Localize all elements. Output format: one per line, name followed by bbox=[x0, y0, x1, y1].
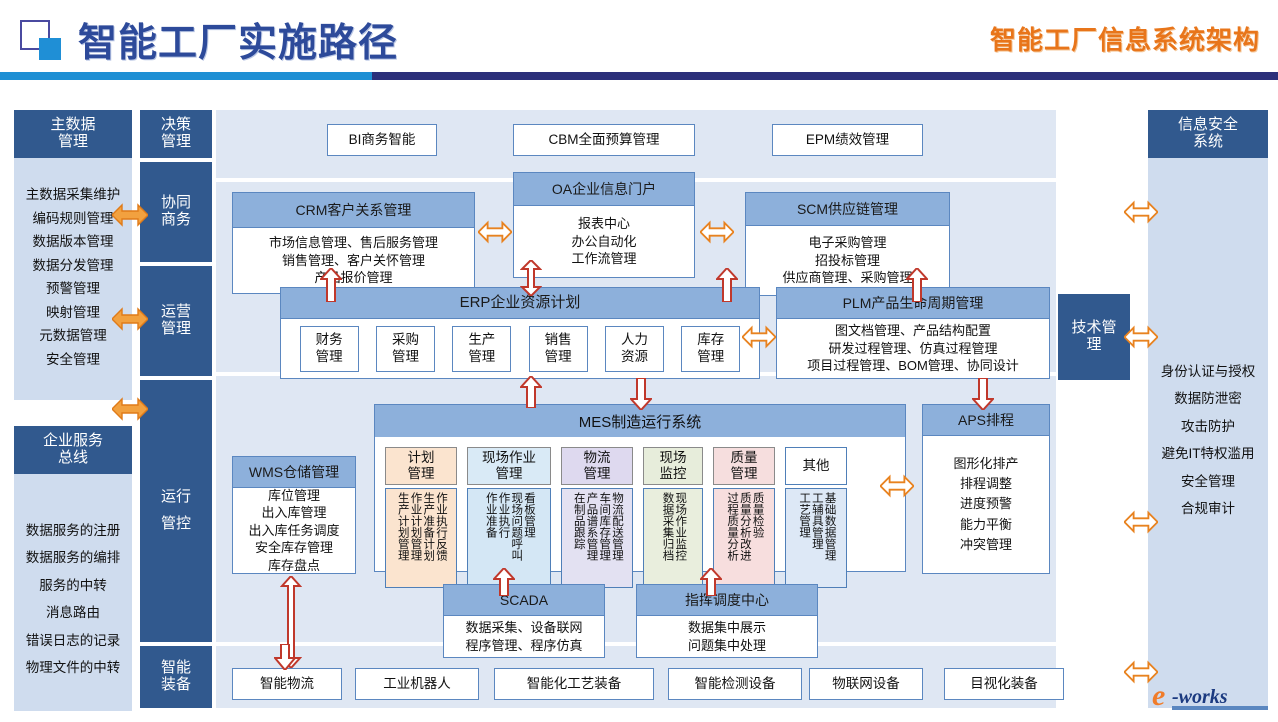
card-line: 能力平衡 bbox=[960, 515, 1012, 535]
arrow-crm-to-oa-icon bbox=[478, 220, 512, 244]
card-line: 图文档管理、产品结构配置 bbox=[835, 322, 991, 340]
mes-item: 基础数据管理 bbox=[823, 492, 835, 561]
card-crm[interactable]: CRM客户关系管理 市场信息管理、售后服务管理 销售管理、客户关怀管理 产品报价… bbox=[232, 192, 475, 276]
module-line1: 采购 bbox=[392, 332, 419, 348]
layer-label-line2: 管理 bbox=[161, 134, 191, 151]
arrow-scada-up-to-mes-icon bbox=[493, 568, 515, 596]
card-line: 安全库存管理 bbox=[255, 539, 333, 557]
esb-title-line1: 企业服务 bbox=[43, 433, 103, 450]
mes-item: 产品谱系管理 bbox=[585, 492, 597, 561]
card-line: 库存盘点 bbox=[268, 557, 320, 575]
card-scada-body: 数据采集、设备联网 程序管理、程序仿真 bbox=[443, 616, 605, 658]
mes-column-quality[interactable]: 质量 管理 质量检验 质量分析改进 过程质量分析 bbox=[713, 447, 775, 588]
card-mes[interactable]: MES制造运行系统 计划 管理 作业执行反馈 生产准备计划 作业计划管理 生产计… bbox=[374, 404, 906, 572]
module-line2: 管理 bbox=[316, 349, 343, 365]
module-line1: 财务 bbox=[316, 332, 343, 348]
mes-column-caption: 现场作业 管理 bbox=[467, 447, 551, 485]
card-line: 问题集中处理 bbox=[688, 637, 766, 655]
master-data-header: 主数据 管理 bbox=[14, 110, 132, 158]
mes-column-items: 作业执行反馈 生产准备计划 作业计划管理 生产计划管理 bbox=[385, 488, 457, 588]
card-line: 报表中心 bbox=[578, 215, 630, 233]
page-subtitle: 智能工厂信息系统架构 bbox=[990, 20, 1260, 57]
svg-text:-works: -works bbox=[1172, 686, 1228, 708]
card-line: 出入库管理 bbox=[261, 504, 326, 522]
mes-item: 工艺管理 bbox=[797, 492, 809, 538]
mes-column-plan[interactable]: 计划 管理 作业执行反馈 生产准备计划 作业计划管理 生产计划管理 bbox=[385, 447, 457, 588]
list-item: 攻击防护 bbox=[1181, 420, 1235, 434]
mes-column-items: 物流配送管理 车间库存管理 产品谱系管理 在制品跟踪 bbox=[561, 488, 633, 588]
caption-line2: 监控 bbox=[660, 466, 687, 482]
module-line2: 管理 bbox=[545, 349, 572, 365]
mes-column-items: 基础数据管理 工辅具管理 工艺管理 bbox=[785, 488, 847, 588]
card-line: 销售管理、客户关怀管理 bbox=[282, 252, 425, 270]
arrow-erp-up-to-crm-icon bbox=[320, 268, 342, 302]
arrow-command-up-to-mes-icon bbox=[700, 568, 722, 596]
layer-label-line2: 装备 bbox=[161, 677, 191, 694]
layer-item-decision[interactable]: 决策 管理 bbox=[140, 110, 212, 158]
diagram-canvas: 主数据 管理 主数据采集维护 编码规则管理 数据版本管理 数据分发管理 预警管理… bbox=[0, 82, 1278, 719]
layer-label-line2: 管理 bbox=[161, 321, 191, 338]
security-title-line2: 系统 bbox=[1178, 134, 1238, 151]
list-item: 数据服务的编排 bbox=[26, 551, 121, 565]
mes-column-caption: 质量 管理 bbox=[713, 447, 775, 485]
card-scada-header: SCADA bbox=[443, 584, 605, 616]
arrow-plm-up-icon bbox=[906, 268, 928, 302]
card-plm-body: 图文档管理、产品结构配置 研发过程管理、仿真过程管理 项目过程管理、BOM管理、… bbox=[776, 319, 1050, 379]
mes-item: 生产准备计划 bbox=[422, 492, 434, 561]
list-item: 错误日志的记录 bbox=[26, 634, 121, 648]
card-line: 程序管理、程序仿真 bbox=[465, 637, 582, 655]
card-aps-body: 图形化排产 排程调整 进度预警 能力平衡 冲突管理 bbox=[922, 436, 1050, 574]
card-line: 排程调整 bbox=[960, 474, 1012, 494]
page-title: 智能工厂实施路径 bbox=[78, 12, 398, 68]
list-item: 身份认证与授权 bbox=[1161, 365, 1256, 379]
card-scada[interactable]: SCADA 数据采集、设备联网 程序管理、程序仿真 bbox=[443, 584, 605, 656]
card-erp[interactable]: ERP企业资源计划 财务 管理 采购 管理 生产 管理 销售 管理 人力 资源 bbox=[280, 287, 760, 377]
header-rule-accent bbox=[0, 72, 372, 80]
list-item: 安全管理 bbox=[1181, 475, 1235, 489]
mes-item: 车间库存管理 bbox=[598, 492, 610, 561]
security-title-line1: 信息安全 bbox=[1178, 117, 1238, 134]
arrow-logistics-down-icon bbox=[274, 644, 296, 670]
arrow-run-to-security-icon bbox=[1124, 510, 1158, 534]
box-smart-process-equipment[interactable]: 智能化工艺装备 bbox=[494, 668, 654, 700]
square-logo-icon bbox=[20, 20, 66, 62]
esb-item-list: 数据服务的注册 数据服务的编排 服务的中转 消息路由 错误日志的记录 物理文件的… bbox=[14, 494, 132, 704]
list-item: 合规审计 bbox=[1181, 502, 1235, 516]
card-line: 进度预警 bbox=[960, 494, 1012, 514]
mes-item: 在制品跟踪 bbox=[572, 492, 584, 550]
erp-module-purchase[interactable]: 采购 管理 bbox=[376, 326, 435, 372]
erp-module-sales[interactable]: 销售 管理 bbox=[529, 326, 588, 372]
caption-line2: 管理 bbox=[408, 466, 435, 482]
card-line: 招投标管理 bbox=[815, 252, 880, 270]
module-line2: 资源 bbox=[621, 349, 648, 365]
mes-column-other[interactable]: 其他 基础数据管理 工辅具管理 工艺管理 bbox=[785, 447, 847, 588]
list-item: 编码规则管理 bbox=[33, 212, 114, 226]
mes-item: 现场作业监控 bbox=[674, 492, 686, 561]
card-oa-header: OA企业信息门户 bbox=[513, 172, 695, 206]
module-line1: 库存 bbox=[697, 332, 724, 348]
card-wms[interactable]: WMS仓储管理 库位管理 出入库管理 出入库任务调度 安全库存管理 库存盘点 bbox=[232, 456, 356, 572]
mes-item: 工辅具管理 bbox=[810, 492, 822, 550]
mes-column-caption: 计划 管理 bbox=[385, 447, 457, 485]
arrow-master-to-ops-icon bbox=[112, 306, 148, 332]
card-wms-header: WMS仓储管理 bbox=[232, 456, 356, 488]
list-item: 数据分发管理 bbox=[33, 259, 114, 273]
arrow-oa-to-scm-icon bbox=[700, 220, 734, 244]
caption-line2: 管理 bbox=[482, 466, 536, 482]
list-item: 预警管理 bbox=[46, 282, 100, 296]
box-bi[interactable]: BI商务智能 bbox=[327, 124, 437, 156]
mes-item: 数据采集归档 bbox=[661, 492, 673, 561]
mes-item: 过程质量分析 bbox=[725, 492, 737, 561]
esb-title-line2: 总线 bbox=[43, 450, 103, 467]
brand-logo: e -works bbox=[1152, 677, 1272, 717]
caption-line2: 管理 bbox=[584, 466, 611, 482]
erp-module-inventory[interactable]: 库存 管理 bbox=[681, 326, 740, 372]
mes-column-items: 质量检验 质量分析改进 过程质量分析 bbox=[713, 488, 775, 588]
arrow-oa-to-erp-icon bbox=[520, 260, 542, 296]
erp-module-production[interactable]: 生产 管理 bbox=[452, 326, 511, 372]
page-header: 智能工厂实施路径 智能工厂信息系统架构 bbox=[0, 0, 1278, 82]
master-data-item-list: 主数据采集维护 编码规则管理 数据版本管理 数据分发管理 预警管理 映射管理 元… bbox=[14, 162, 132, 392]
arrow-master-to-run-icon bbox=[112, 396, 148, 422]
layer-label-line1: 智能 bbox=[161, 660, 191, 677]
mes-column-caption: 物流 管理 bbox=[561, 447, 633, 485]
card-scm[interactable]: SCM供应链管理 电子采购管理 招投标管理 供应商管理、采购管理 bbox=[745, 192, 950, 276]
layer-label-line1: 协同 bbox=[161, 195, 191, 212]
box-visual-equipment[interactable]: 目视化装备 bbox=[944, 668, 1064, 700]
layer-item-operations[interactable]: 运营 管理 bbox=[140, 266, 212, 376]
list-item: 元数据管理 bbox=[39, 329, 107, 343]
module-line1: 生产 bbox=[468, 332, 495, 348]
mes-item: 作业计划管理 bbox=[409, 492, 421, 561]
arrow-aps-down-icon bbox=[972, 378, 994, 410]
list-item: 数据版本管理 bbox=[33, 235, 114, 249]
module-line2: 管理 bbox=[468, 349, 495, 365]
security-item-list: 身份认证与授权 数据防泄密 攻击防护 避免IT特权滥用 安全管理 合规审计 bbox=[1148, 354, 1268, 526]
card-crm-header: CRM客户关系管理 bbox=[232, 192, 475, 228]
arrow-plm-to-security-icon bbox=[1124, 200, 1158, 224]
layer-item-collaboration[interactable]: 协同 商务 bbox=[140, 162, 212, 262]
mes-column-caption: 现场 监控 bbox=[643, 447, 703, 485]
mes-column-logistics[interactable]: 物流 管理 物流配送管理 车间库存管理 产品谱系管理 在制品跟踪 bbox=[561, 447, 633, 588]
master-data-title-line1: 主数据 bbox=[50, 117, 95, 134]
card-erp-body: 财务 管理 采购 管理 生产 管理 销售 管理 人力 资源 库存 管理 bbox=[280, 319, 760, 379]
svg-text:e: e bbox=[1152, 679, 1165, 712]
arrow-mes-to-aps-icon bbox=[880, 474, 914, 498]
arrow-master-to-collab-icon bbox=[112, 202, 148, 228]
box-cbm[interactable]: CBM全面预算管理 bbox=[513, 124, 695, 156]
box-smart-logistics[interactable]: 智能物流 bbox=[232, 668, 342, 700]
card-line: 工作流管理 bbox=[571, 250, 636, 268]
mes-item: 物流配送管理 bbox=[610, 492, 622, 561]
arrow-mes-up-to-erp-icon bbox=[520, 376, 542, 408]
card-aps[interactable]: APS排程 图形化排产 排程调整 进度预警 能力平衡 冲突管理 bbox=[922, 404, 1050, 572]
layer-label-line1: 决策 bbox=[161, 117, 191, 134]
tech-management-line1: 技术管 bbox=[1071, 320, 1116, 337]
list-item: 服务的中转 bbox=[39, 579, 107, 593]
security-header: 信息安全 系统 bbox=[1148, 110, 1268, 158]
list-item: 物理文件的中转 bbox=[26, 661, 121, 675]
mes-item: 生产计划管理 bbox=[396, 492, 408, 561]
erp-module-finance[interactable]: 财务 管理 bbox=[300, 326, 359, 372]
caption-line1: 计划 bbox=[408, 450, 435, 466]
layer-label-line2: 管控 bbox=[161, 516, 191, 533]
mes-column-items: 现场作业监控 数据采集归档 bbox=[643, 488, 703, 588]
card-wms-body: 库位管理 出入库管理 出入库任务调度 安全库存管理 库存盘点 bbox=[232, 488, 356, 574]
module-line1: 销售 bbox=[545, 332, 572, 348]
card-oa[interactable]: OA企业信息门户 报表中心 办公自动化 工作流管理 bbox=[513, 172, 695, 258]
list-item: 消息路由 bbox=[46, 606, 100, 620]
esb-header: 企业服务 总线 bbox=[14, 426, 132, 474]
layer-label-line1: 运营 bbox=[161, 304, 191, 321]
arrow-mes-down-icon bbox=[630, 378, 652, 410]
list-item: 安全管理 bbox=[46, 353, 100, 367]
mes-item: 质量检验 bbox=[751, 492, 763, 538]
layer-item-equipment[interactable]: 智能 装备 bbox=[140, 646, 212, 708]
module-line2: 管理 bbox=[392, 349, 419, 365]
box-epm[interactable]: EPM绩效管理 bbox=[772, 124, 923, 156]
mes-item: 作业执行 bbox=[497, 492, 509, 538]
erp-module-hr[interactable]: 人力 资源 bbox=[605, 326, 664, 372]
caption-line2: 管理 bbox=[731, 466, 758, 482]
layer-label-line2: 商务 bbox=[161, 212, 191, 229]
card-scm-header: SCM供应链管理 bbox=[745, 192, 950, 226]
card-line: 市场信息管理、售后服务管理 bbox=[269, 234, 438, 252]
card-line: 库位管理 bbox=[268, 487, 320, 505]
card-line: 冲突管理 bbox=[960, 535, 1012, 555]
tech-management-panel[interactable]: 技术管 理 bbox=[1058, 294, 1130, 380]
arrow-tech-to-security-icon bbox=[1124, 325, 1158, 349]
caption-line1: 其他 bbox=[803, 458, 830, 474]
list-item: 主数据采集维护 bbox=[26, 188, 121, 202]
card-command-center-header: 指挥调度中心 bbox=[636, 584, 818, 616]
layer-label-line1: 运行 bbox=[161, 489, 191, 506]
card-line: 办公自动化 bbox=[571, 233, 636, 251]
mes-item: 现场问题呼叫 bbox=[510, 492, 522, 561]
caption-line1: 现场 bbox=[660, 450, 687, 466]
card-line: 供应商管理、采购管理 bbox=[782, 269, 912, 287]
card-line: 电子采购管理 bbox=[808, 234, 886, 252]
card-line: 数据集中展示 bbox=[688, 619, 766, 637]
list-item: 数据服务的注册 bbox=[26, 524, 121, 538]
card-crm-body: 市场信息管理、售后服务管理 销售管理、客户关怀管理 产品报价管理 bbox=[232, 228, 475, 294]
mes-item: 看板管理 bbox=[522, 492, 534, 538]
mes-column-caption: 其他 bbox=[785, 447, 847, 485]
box-iot-equipment[interactable]: 物联网设备 bbox=[809, 668, 923, 700]
master-data-title-line2: 管理 bbox=[50, 134, 95, 151]
caption-line1: 质量 bbox=[731, 450, 758, 466]
arrow-scm-up-icon bbox=[716, 268, 738, 302]
card-line: 研发过程管理、仿真过程管理 bbox=[828, 340, 997, 358]
card-line: 数据采集、设备联网 bbox=[465, 619, 582, 637]
arrow-erp-to-plm-icon bbox=[742, 325, 776, 349]
mes-item: 质量分析改进 bbox=[738, 492, 750, 561]
card-command-center-body: 数据集中展示 问题集中处理 bbox=[636, 616, 818, 658]
tech-management-line2: 理 bbox=[1071, 337, 1116, 354]
module-line2: 管理 bbox=[697, 349, 724, 365]
card-line: 图形化排产 bbox=[953, 454, 1018, 474]
card-command-center[interactable]: 指挥调度中心 数据集中展示 问题集中处理 bbox=[636, 584, 818, 656]
module-line1: 人力 bbox=[621, 332, 648, 348]
caption-line1: 物流 bbox=[584, 450, 611, 466]
caption-line1: 现场作业 bbox=[482, 450, 536, 466]
box-industrial-robot[interactable]: 工业机器人 bbox=[355, 668, 479, 700]
list-item: 数据防泄密 bbox=[1174, 392, 1242, 406]
layer-item-execution[interactable]: 运行 管控 bbox=[140, 380, 212, 642]
list-item: 映射管理 bbox=[46, 306, 100, 320]
mes-item: 作业准备 bbox=[484, 492, 496, 538]
mes-item: 作业执行反馈 bbox=[434, 492, 446, 561]
box-smart-inspection-equipment[interactable]: 智能检测设备 bbox=[668, 668, 802, 700]
card-line: 出入库任务调度 bbox=[248, 522, 339, 540]
mes-column-shopfloor-ops[interactable]: 现场作业 管理 看板管理 现场问题呼叫 作业执行 作业准备 bbox=[467, 447, 551, 588]
mes-column-monitoring[interactable]: 现场 监控 现场作业监控 数据采集归档 bbox=[643, 447, 703, 588]
card-line: 项目过程管理、BOM管理、协同设计 bbox=[807, 357, 1019, 375]
list-item: 避免IT特权滥用 bbox=[1162, 447, 1255, 461]
